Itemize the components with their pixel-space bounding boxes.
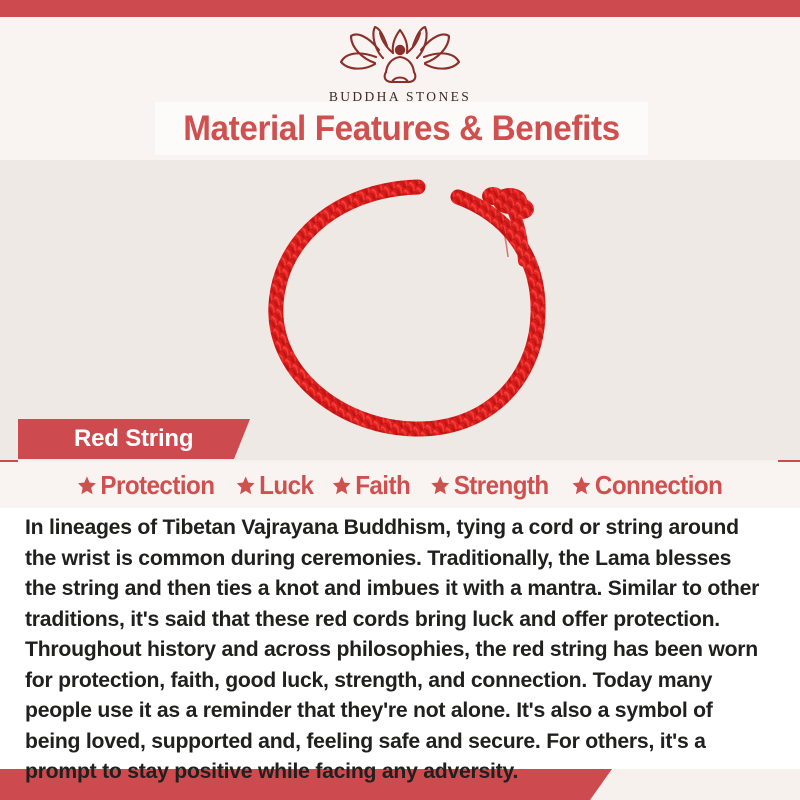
page-title: Material Features & Benefits [167,102,635,155]
product-name-label: Red String [74,419,193,459]
benefit-item-faith: Faith [332,470,410,501]
benefit-label: Faith [355,470,410,501]
benefit-item-protection: Protection [77,470,214,501]
benefit-label: Connection [595,470,722,501]
star-icon [572,475,592,496]
benefit-item-luck: Luck [235,470,312,501]
top-accent-bar [0,0,800,17]
star-icon [235,475,255,496]
star-icon [332,475,352,496]
star-icon [77,475,97,496]
lotus-meditation-figure-icon [335,24,465,86]
benefits-row: Protection Luck Faith Strength Connectio [0,462,800,508]
benefit-label: Protection [100,470,214,501]
benefit-item-connection: Connection [572,470,723,501]
red-braided-string-bracelet [246,165,576,455]
benefit-label: Luck [259,470,313,501]
infographic-page: BUDDHA STONES Material Features & Benefi… [0,0,800,800]
brand-logo: BUDDHA STONES [0,24,800,105]
benefit-item-strength: Strength [430,470,548,501]
description-text: In lineages of Tibetan Vajrayana Buddhis… [25,512,766,787]
benefit-label: Strength [454,470,549,501]
star-icon [430,475,450,496]
